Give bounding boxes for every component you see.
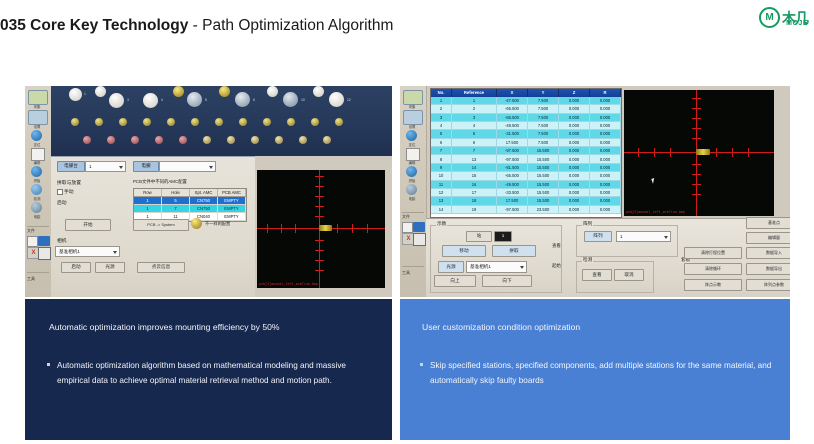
mouse-cursor-icon bbox=[651, 177, 657, 183]
sidebar-icon-panelize[interactable] bbox=[31, 166, 42, 177]
left-caption-title: Automatic optimization improves mounting… bbox=[49, 322, 376, 333]
sidebar-section-tools: 工具 bbox=[402, 270, 410, 276]
cell-y: 15.500 bbox=[528, 197, 559, 205]
table-row[interactable]: 55-31.5007.5000.0000.000 bbox=[431, 130, 621, 138]
cell-row: 1 bbox=[134, 205, 162, 212]
sidebar-icon-save[interactable] bbox=[38, 247, 51, 260]
page-title-rest: - Path Optimization Algorithm bbox=[188, 17, 393, 34]
tick bbox=[315, 270, 324, 271]
table-row[interactable]: 131817.50015.5000.0000.000 bbox=[431, 197, 621, 205]
sidebar-label-0: 采集 bbox=[27, 104, 47, 109]
cell-x: -33.500 bbox=[497, 189, 528, 197]
nozzle-large-8 bbox=[235, 92, 250, 107]
cell-r: 0.000 bbox=[590, 105, 621, 113]
nozzle-gold-5 bbox=[173, 86, 184, 97]
cell-z: 0.000 bbox=[559, 164, 590, 172]
edit-amount-button[interactable]: 编辑量 bbox=[746, 232, 790, 244]
nozzle-large-3 bbox=[95, 86, 106, 97]
nozzle-small-13 bbox=[71, 118, 79, 126]
group-station-title: 示教 bbox=[436, 221, 447, 227]
cell-hole: 7 bbox=[162, 205, 190, 212]
cell-z: 0.000 bbox=[559, 114, 590, 122]
cell-no: 8 bbox=[431, 155, 452, 163]
tick bbox=[295, 224, 296, 233]
checkbox-manual[interactable] bbox=[57, 189, 63, 195]
cell-pcbamc: EMPTY bbox=[218, 213, 246, 220]
cell-no: 2 bbox=[431, 105, 452, 113]
sidebar-icon-settings[interactable] bbox=[403, 110, 423, 125]
cell-sptamc: CN750 bbox=[190, 205, 218, 212]
tick bbox=[352, 224, 353, 233]
cell-ref: 7 bbox=[452, 147, 497, 155]
array-teach-button[interactable]: 阵点示教 bbox=[684, 279, 742, 291]
table-row[interactable]: 1419-97.50023.5000.0000.000 bbox=[431, 206, 621, 214]
point-cloud-info-button[interactable]: 点云信息 bbox=[137, 262, 185, 273]
tick bbox=[716, 148, 717, 157]
sidebar-icon-locate[interactable] bbox=[31, 130, 42, 141]
coordinate-table[interactable]: No. Reference X Y Z R 11-47.5007.5000.00… bbox=[430, 88, 622, 218]
tick bbox=[692, 118, 701, 119]
cell-ref: 1 bbox=[452, 97, 497, 105]
nozzle-small-22 bbox=[179, 136, 187, 144]
cell-y: 7.500 bbox=[528, 105, 559, 113]
nozzle-small-19 bbox=[143, 118, 151, 126]
cell-x: 17.500 bbox=[497, 139, 528, 147]
tick bbox=[638, 148, 639, 157]
cell-z: 0.000 bbox=[559, 172, 590, 180]
tick bbox=[692, 184, 701, 185]
left-sidebar[interactable]: 采集 设置 定位 编辑 拼板 检测 电朦 文件 X 工具 bbox=[25, 86, 52, 297]
sidebar-label-3: 编辑 bbox=[402, 160, 422, 165]
label-manual: 手动 bbox=[64, 188, 74, 195]
move-up-button[interactable]: 向上 bbox=[434, 275, 476, 287]
cell-z: 0.000 bbox=[559, 197, 590, 205]
amc-col-sptamc: Spt. AMC bbox=[190, 189, 218, 196]
start-camera-button[interactable]: 启动 bbox=[61, 262, 91, 273]
cell-x: -65.500 bbox=[497, 172, 528, 180]
left-camera-caption: pcb[2]anneal_left_aveTrue.bmp bbox=[259, 283, 318, 287]
table-row[interactable]: 914-81.50015.5000.0000.000 bbox=[431, 164, 621, 172]
sidebar-icon-locate[interactable] bbox=[406, 130, 417, 141]
nozzle-large-2 bbox=[109, 93, 124, 108]
combo-label-feeder[interactable]: 电朦 bbox=[133, 161, 159, 172]
cell-z: 0.000 bbox=[559, 139, 590, 147]
tick bbox=[692, 108, 701, 109]
sidebar-label-6: 电朦 bbox=[402, 196, 422, 201]
cell-row: 1 bbox=[134, 197, 162, 204]
sidebar-divider bbox=[402, 212, 424, 213]
pick-button[interactable]: 拼取 bbox=[492, 245, 536, 257]
nozzle-small-29 bbox=[263, 118, 271, 126]
nozzle-num-4: 4 bbox=[161, 98, 163, 102]
nozzle-num-6: 5 bbox=[205, 98, 207, 102]
tick bbox=[281, 224, 282, 233]
table-row[interactable]: 11-47.5007.5000.0000.000 bbox=[431, 97, 621, 105]
group-array-title: 阵列 bbox=[582, 221, 593, 227]
cell-no: 7 bbox=[431, 147, 452, 155]
array-button[interactable]: 阵列 bbox=[584, 231, 612, 242]
cell-r: 0.000 bbox=[590, 181, 621, 189]
tick bbox=[315, 206, 324, 207]
sidebar-label-4: 拼板 bbox=[27, 178, 47, 183]
cell-ref: 18 bbox=[452, 197, 497, 205]
nozzle-small-32 bbox=[299, 136, 307, 144]
nozzle-small-34 bbox=[323, 136, 331, 144]
coordinate-table-header: No. Reference X Y Z R bbox=[431, 89, 621, 97]
right-control-panel: 示教 站 1 移动 拼取 光源 基准相机1 向上 向下 查看 起始 阵列 阵列 … bbox=[426, 218, 790, 297]
sidebar-label-2: 定位 bbox=[27, 142, 47, 147]
left-caption-bullet: Automatic optimization algorithm based o… bbox=[47, 358, 374, 388]
col-no: No. bbox=[431, 89, 452, 97]
clear-pos-button[interactable]: 清除打程位置 bbox=[684, 247, 742, 259]
cell-z: 0.000 bbox=[559, 122, 590, 130]
data-export-button[interactable]: 数据导出 bbox=[746, 263, 790, 275]
nozzle-num-12: 12 bbox=[347, 98, 351, 102]
cell-ref: 4 bbox=[452, 122, 497, 130]
cell-r: 0.000 bbox=[590, 139, 621, 147]
cell-y: 15.500 bbox=[528, 147, 559, 155]
mismatch-config-label: 不一样的配置 bbox=[205, 221, 230, 227]
sidebar-label-6: 电朦 bbox=[27, 214, 47, 219]
sidebar-icon-collect[interactable] bbox=[403, 90, 423, 105]
cell-ref: 15 bbox=[452, 172, 497, 180]
cell-y: 15.500 bbox=[528, 172, 559, 180]
sidebar-icon-save[interactable] bbox=[413, 233, 426, 246]
cell-no: 4 bbox=[431, 122, 452, 130]
nozzle-large-12 bbox=[329, 92, 344, 107]
cell-y: 7.500 bbox=[528, 139, 559, 147]
array-value-select[interactable]: 1 bbox=[616, 231, 671, 242]
cell-z: 0.000 bbox=[559, 206, 590, 214]
table-row[interactable]: 1 7 CN750 EMPTY bbox=[134, 205, 246, 213]
cell-r: 0.000 bbox=[590, 155, 621, 163]
light-button[interactable]: 光源 bbox=[438, 261, 464, 273]
tick bbox=[315, 186, 324, 187]
cell-z: 0.000 bbox=[559, 105, 590, 113]
sidebar-label-1: 设置 bbox=[402, 124, 422, 129]
logo-circle-m-icon: M bbox=[759, 7, 780, 28]
data-import-button[interactable]: 数据导入 bbox=[746, 247, 790, 259]
inner-table-title: PCB文件中不同的AMC配置 bbox=[133, 179, 187, 185]
sidebar-label-2: 定位 bbox=[402, 142, 422, 147]
sidebar-icon-magnet[interactable] bbox=[31, 202, 42, 213]
cell-pcbamc: EMPTY bbox=[218, 197, 246, 204]
left-caption-bullet-text: Automatic optimization algorithm based o… bbox=[57, 358, 374, 388]
cell-x: -97.500 bbox=[497, 206, 528, 214]
table-row[interactable]: 1217-33.50015.5000.0000.000 bbox=[431, 189, 621, 197]
cell-y: 7.500 bbox=[528, 122, 559, 130]
cancel-button[interactable]: 取消 bbox=[614, 269, 644, 281]
col-x: X bbox=[497, 89, 528, 97]
cell-no: 14 bbox=[431, 206, 452, 214]
cell-x: -65.500 bbox=[497, 114, 528, 122]
nozzle-num-10: 10 bbox=[301, 98, 305, 102]
combo-feeder-value[interactable] bbox=[159, 161, 216, 172]
table-row[interactable]: 44-49.5007.5000.0000.000 bbox=[431, 122, 621, 130]
tick bbox=[315, 260, 324, 261]
label-start: 起始 bbox=[552, 263, 561, 269]
tick bbox=[654, 148, 655, 157]
cell-r: 0.000 bbox=[590, 189, 621, 197]
sidebar-label-3: 编辑 bbox=[27, 160, 47, 165]
cell-y: 15.500 bbox=[528, 164, 559, 172]
nozzle-small-33 bbox=[311, 118, 319, 126]
nozzle-small-16 bbox=[107, 136, 115, 144]
cell-ref: 2 bbox=[452, 105, 497, 113]
array-point-param-button[interactable]: 阵列点参数 bbox=[746, 279, 790, 291]
tick bbox=[748, 148, 749, 157]
cell-r: 0.000 bbox=[590, 114, 621, 122]
table-row[interactable]: 1015-65.50015.5000.0000.000 bbox=[431, 172, 621, 180]
tick bbox=[315, 176, 324, 177]
cell-r: 0.000 bbox=[590, 122, 621, 130]
cell-r: 0.000 bbox=[590, 130, 621, 138]
nozzle-small-28 bbox=[251, 136, 259, 144]
table-row[interactable]: 813-97.50015.5000.0000.000 bbox=[431, 155, 621, 163]
tick bbox=[267, 224, 268, 233]
logo-wordmark: MOJE bbox=[786, 20, 808, 27]
cell-no: 3 bbox=[431, 114, 452, 122]
cell-no: 11 bbox=[431, 181, 452, 189]
group-check-title: 检测 bbox=[582, 257, 593, 263]
cell-x: -49.500 bbox=[497, 181, 528, 189]
table-row[interactable]: 1116-49.50015.5000.0000.000 bbox=[431, 181, 621, 189]
cell-r: 0.000 bbox=[590, 172, 621, 180]
tick bbox=[315, 240, 324, 241]
label-camera-group: 相机 bbox=[57, 237, 67, 244]
nozzle-num-2: 3 bbox=[127, 98, 129, 102]
cell-ref: 17 bbox=[452, 189, 497, 197]
col-y: Y bbox=[528, 89, 559, 97]
sidebar-divider-2 bbox=[402, 266, 424, 267]
view-button[interactable]: 查看 bbox=[582, 269, 612, 281]
sidebar-section-tools: 工具 bbox=[27, 276, 35, 282]
tick bbox=[692, 98, 701, 99]
right-caption-box: User customization condition optimizatio… bbox=[400, 299, 790, 440]
cell-ref: 5 bbox=[452, 130, 497, 138]
sidebar-divider bbox=[27, 226, 49, 227]
sidebar-icon-settings[interactable] bbox=[28, 110, 48, 125]
cell-r: 0.000 bbox=[590, 147, 621, 155]
right-camera-caption: pcb[2]anneal_left_aveTrue.bmp bbox=[626, 211, 685, 215]
cell-z: 0.000 bbox=[559, 189, 590, 197]
datum-point-button[interactable]: 基准点 bbox=[746, 217, 790, 229]
sidebar-icon-open[interactable] bbox=[38, 236, 50, 246]
cell-x: -81.500 bbox=[497, 164, 528, 172]
tick bbox=[670, 148, 671, 157]
cell-ref: 13 bbox=[452, 155, 497, 163]
cell-x: -47.500 bbox=[497, 97, 528, 105]
base-camera-select[interactable]: 基准相机1 bbox=[466, 261, 527, 273]
nozzle-small-27 bbox=[239, 118, 247, 126]
cell-y: 7.500 bbox=[528, 114, 559, 122]
clear-loop-button[interactable]: 清除循环 bbox=[684, 263, 742, 275]
cell-no: 10 bbox=[431, 172, 452, 180]
tick bbox=[692, 194, 701, 195]
tick bbox=[732, 148, 733, 157]
tick bbox=[692, 164, 701, 165]
nozzle-small-25 bbox=[215, 118, 223, 126]
page-title: 035 Core Key Technology - Path Optimizat… bbox=[0, 17, 393, 35]
right-caption-bullet-text: Skip specified stations, specified compo… bbox=[430, 358, 772, 388]
nozzle-small-24 bbox=[203, 136, 211, 144]
sidebar-icon-new[interactable] bbox=[27, 236, 38, 247]
cell-pcbamc: EMPTY bbox=[218, 205, 246, 212]
cell-z: 0.000 bbox=[559, 97, 590, 105]
nozzle-large-1 bbox=[69, 88, 82, 101]
cell-ref: 19 bbox=[452, 206, 497, 214]
sidebar-icon-open[interactable] bbox=[413, 222, 425, 232]
cell-r: 0.000 bbox=[590, 164, 621, 172]
pcb-to-system-button[interactable]: PCB -> System bbox=[133, 219, 189, 231]
right-caption-title: User customization condition optimizatio… bbox=[422, 322, 774, 333]
cell-hole: 5 bbox=[162, 197, 190, 204]
right-sidebar[interactable]: 采集 设置 定位 编辑 拼板 电朦 文件 X 工具 bbox=[400, 86, 427, 297]
col-reference: Reference bbox=[452, 89, 497, 97]
cell-z: 0.000 bbox=[559, 155, 590, 163]
page-title-bold: 035 Core Key Technology bbox=[0, 17, 188, 34]
base-camera-select[interactable]: 基准相机1 bbox=[55, 246, 120, 257]
nozzle-small-35 bbox=[335, 118, 343, 126]
right-caption-bullet: Skip specified stations, specified compo… bbox=[420, 358, 772, 388]
station-value[interactable]: 1 bbox=[494, 231, 512, 242]
cell-r: 0.000 bbox=[590, 206, 621, 214]
cell-x: -97.500 bbox=[497, 155, 528, 163]
cell-y: 15.500 bbox=[528, 189, 559, 197]
left-camera-view[interactable]: pcb[2]anneal_left_aveTrue.bmp bbox=[257, 170, 385, 288]
cell-no: 1 bbox=[431, 97, 452, 105]
sidebar-icon-new[interactable] bbox=[402, 222, 413, 233]
sidebar-label-0: 采集 bbox=[402, 104, 422, 109]
cell-ref: 14 bbox=[452, 164, 497, 172]
bullet-icon bbox=[420, 363, 423, 366]
tick bbox=[315, 196, 324, 197]
nozzle-11 bbox=[313, 86, 324, 97]
page-header: 035 Core Key Technology - Path Optimizat… bbox=[0, 0, 814, 52]
right-camera-view[interactable]: pcb[2]anneal_left_aveTrue.bmp bbox=[624, 90, 774, 216]
cell-x: -97.500 bbox=[497, 147, 528, 155]
cell-z: 0.000 bbox=[559, 147, 590, 155]
cell-z: 0.000 bbox=[559, 181, 590, 189]
table-row[interactable]: 33-65.5007.5000.0000.000 bbox=[431, 114, 621, 122]
nozzle-small-18 bbox=[131, 136, 139, 144]
cell-no: 5 bbox=[431, 130, 452, 138]
cell-z: 0.000 bbox=[559, 130, 590, 138]
cell-ref: 16 bbox=[452, 181, 497, 189]
tick bbox=[337, 224, 338, 233]
nozzle-large-6 bbox=[187, 92, 202, 107]
left-caption-box: Automatic optimization improves mounting… bbox=[25, 299, 392, 440]
left-control-panel: 电朦台 1 电朦 拼取与放置 手动 启动 PCB文件中不同的AMC配置 Row … bbox=[51, 156, 255, 297]
cell-x: -49.500 bbox=[497, 122, 528, 130]
station-button[interactable]: 站 bbox=[466, 231, 492, 242]
amc-config-table[interactable]: Row Hole Spt. AMC PCB AMC 1 5 CN750 EMPT… bbox=[133, 188, 247, 222]
cell-ref: 6 bbox=[452, 139, 497, 147]
sidebar-divider-2 bbox=[27, 272, 49, 273]
start-button[interactable]: 开始 bbox=[65, 219, 111, 231]
table-row[interactable]: 22-65.5007.5000.0000.000 bbox=[431, 105, 621, 113]
sidebar-label-5: 检测 bbox=[27, 196, 47, 201]
cell-x: 17.500 bbox=[497, 197, 528, 205]
sidebar-icon-panelize[interactable] bbox=[406, 166, 417, 177]
component-marker bbox=[319, 225, 332, 231]
nozzle-num-8: 6 bbox=[253, 98, 255, 102]
move-button[interactable]: 移动 bbox=[442, 245, 486, 257]
bullet-icon bbox=[47, 363, 50, 366]
col-r: R bbox=[590, 89, 621, 97]
cell-y: 7.500 bbox=[528, 130, 559, 138]
tick bbox=[692, 138, 701, 139]
nozzle-small-26 bbox=[227, 136, 235, 144]
sidebar-icon-inspect[interactable] bbox=[31, 184, 42, 195]
nozzle-small-15 bbox=[95, 118, 103, 126]
cell-no: 13 bbox=[431, 197, 452, 205]
sidebar-section-file: 文件 bbox=[27, 228, 35, 234]
cell-no: 6 bbox=[431, 139, 452, 147]
cell-x: -65.500 bbox=[497, 105, 528, 113]
col-z: Z bbox=[559, 89, 590, 97]
nozzle-small-23 bbox=[191, 118, 199, 126]
amc-table-header: Row Hole Spt. AMC PCB AMC bbox=[134, 189, 246, 197]
nozzle-small-17 bbox=[119, 118, 127, 126]
combo-station-value[interactable]: 1 bbox=[85, 161, 126, 172]
nozzle-gold-7 bbox=[219, 86, 230, 97]
amc-col-hole: Hole bbox=[162, 189, 190, 196]
table-row[interactable]: 77-97.50015.5000.0000.000 bbox=[431, 147, 621, 155]
machine-head-diagram: 1 3 4 5 6 10 12 bbox=[51, 86, 392, 156]
label-fiducial: 启动 bbox=[57, 199, 67, 206]
tick bbox=[367, 224, 368, 233]
cell-y: 7.500 bbox=[528, 97, 559, 105]
nozzle-small-14 bbox=[83, 136, 91, 144]
tick bbox=[692, 174, 701, 175]
table-row[interactable]: 1 5 CN750 EMPTY bbox=[134, 197, 246, 205]
sidebar-icon-magnet[interactable] bbox=[406, 184, 417, 195]
cell-no: 9 bbox=[431, 164, 452, 172]
nozzle-num-1: 1 bbox=[84, 92, 86, 96]
cell-no: 12 bbox=[431, 189, 452, 197]
nozzle-small-30 bbox=[275, 136, 283, 144]
amc-col-row: Row bbox=[134, 189, 162, 196]
cell-y: 23.500 bbox=[528, 206, 559, 214]
nozzle-small-20 bbox=[155, 136, 163, 144]
sidebar-icon-collect[interactable] bbox=[28, 90, 48, 105]
table-row[interactable]: 6617.5007.5000.0000.000 bbox=[431, 139, 621, 147]
cell-y: 15.500 bbox=[528, 155, 559, 163]
tick bbox=[315, 250, 324, 251]
light-source-button[interactable]: 光源 bbox=[95, 262, 125, 273]
cell-r: 0.000 bbox=[590, 97, 621, 105]
tick bbox=[315, 216, 324, 217]
sidebar-label-1: 设置 bbox=[27, 124, 47, 129]
sidebar-label-4: 拼板 bbox=[402, 178, 422, 183]
nozzle-9 bbox=[267, 86, 278, 97]
nozzle-large-10 bbox=[283, 92, 298, 107]
nozzle-small-21 bbox=[167, 118, 175, 126]
sidebar-section-file: 文件 bbox=[402, 214, 410, 220]
move-down-button[interactable]: 向下 bbox=[482, 275, 532, 287]
nozzle-small-31 bbox=[287, 118, 295, 126]
cell-ref: 3 bbox=[452, 114, 497, 122]
cell-y: 15.500 bbox=[528, 181, 559, 189]
nozzle-large-4 bbox=[143, 93, 158, 108]
label-lookup: 查看 bbox=[552, 243, 561, 249]
combo-label-station[interactable]: 电朦台 bbox=[57, 161, 85, 172]
cell-sptamc: CN750 bbox=[190, 197, 218, 204]
left-screenshot: 采集 设置 定位 编辑 拼板 检测 电朦 文件 X 工具 1 3 4 5 6 bbox=[25, 86, 392, 297]
amc-col-pcbamc: PCB AMC bbox=[218, 189, 246, 196]
cell-x: -31.500 bbox=[497, 130, 528, 138]
